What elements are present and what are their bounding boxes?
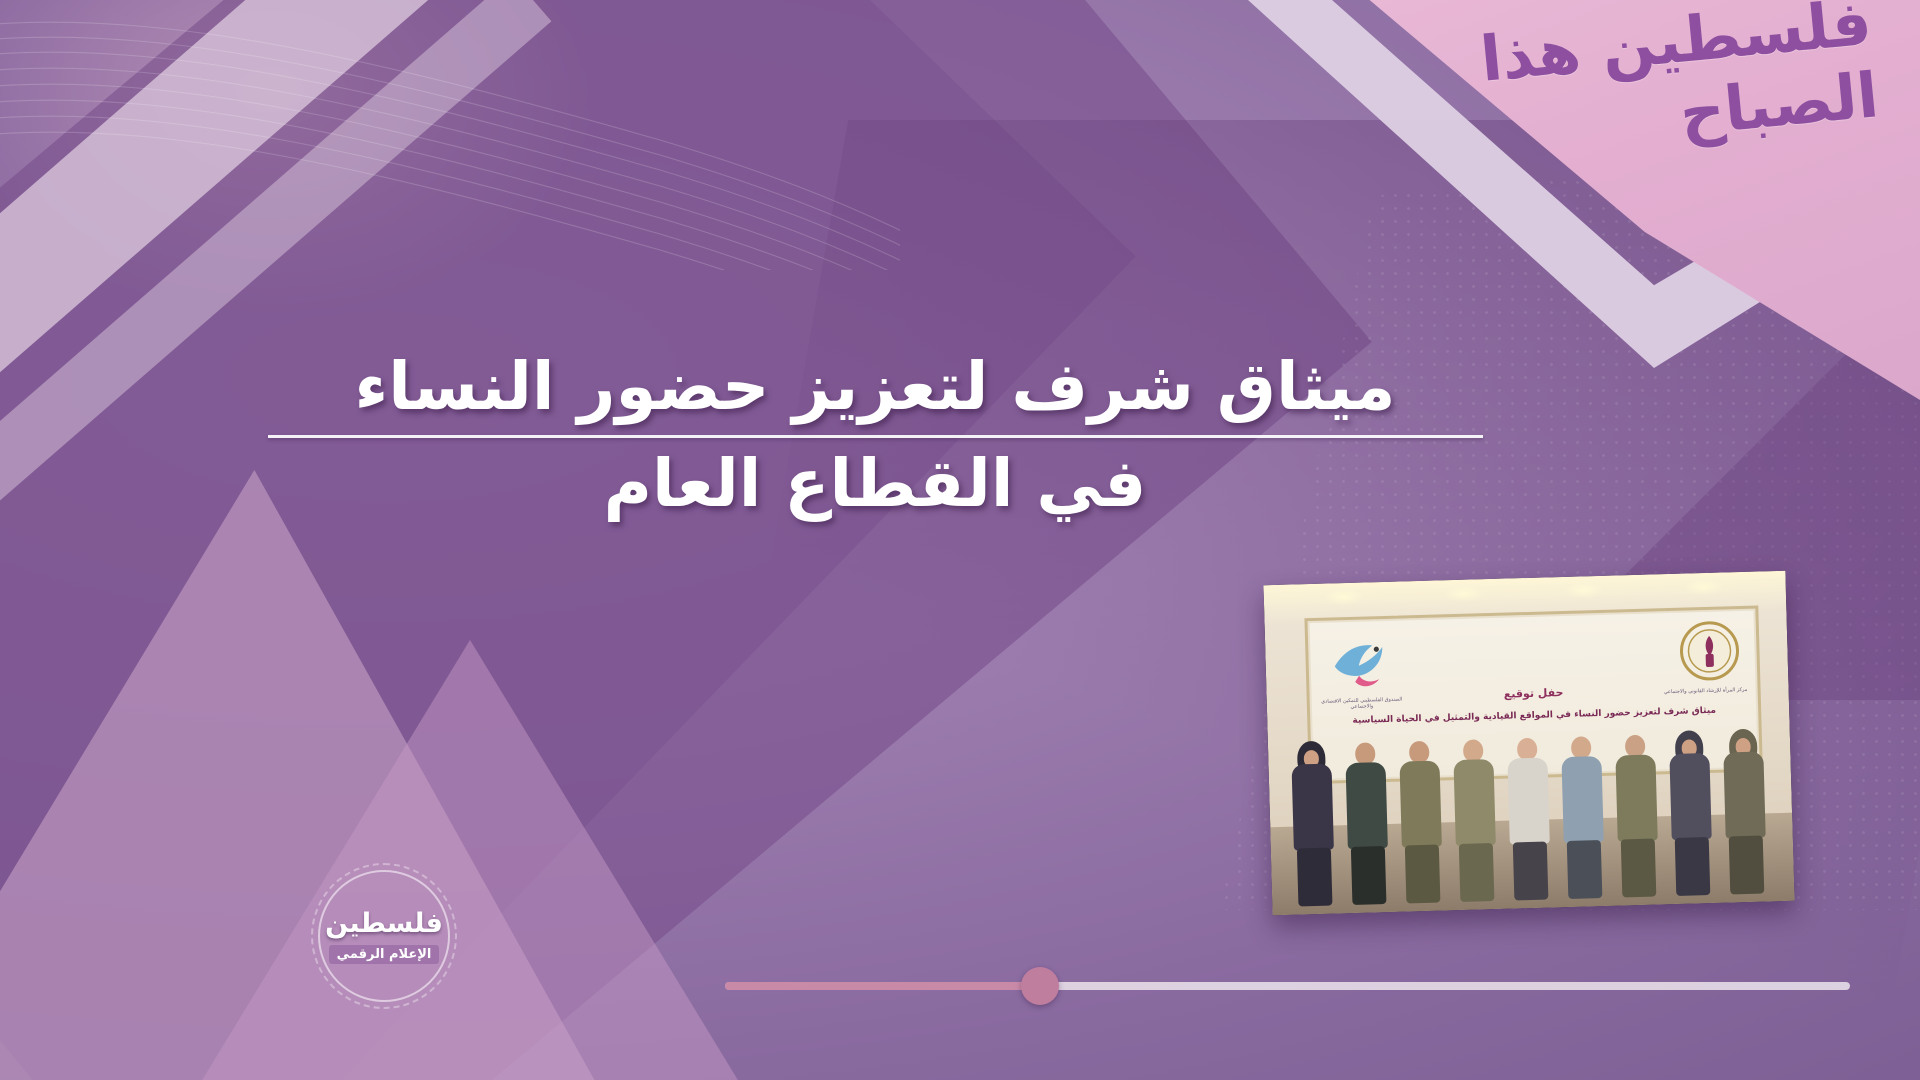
photo-person (1448, 739, 1502, 900)
photo-person (1286, 743, 1340, 904)
dove-logo-icon (1324, 631, 1398, 695)
headline-line-2: في القطاع العام (260, 442, 1490, 526)
photo-person (1718, 731, 1772, 892)
background-layer (0, 0, 1920, 1080)
photo-person (1394, 740, 1448, 901)
photo-person (1664, 733, 1718, 894)
watermark-dashed-ring (311, 863, 457, 1009)
progress-scrubber-handle[interactable] (1021, 967, 1059, 1005)
organization-emblem-icon (1678, 619, 1742, 683)
news-photo: الصندوق الفلسطيني للتمكين الاقتصادي والا… (1263, 571, 1794, 915)
headline-block: ميثاق شرف لتعزيز حضور النساء في القطاع ا… (260, 345, 1490, 527)
background-wave-lines-icon (0, 0, 900, 270)
channel-watermark: فلسطين الإعلام الرقمي (318, 870, 450, 1002)
headline-line-1: ميثاق شرف لتعزيز حضور النساء (260, 345, 1490, 429)
video-progress-bar[interactable] (725, 982, 1850, 990)
photo-person (1340, 742, 1394, 903)
photo-person (1502, 737, 1556, 898)
photo-person (1610, 734, 1664, 895)
photo-people-row (1282, 721, 1781, 905)
headline-divider (268, 435, 1483, 438)
progress-fill (725, 982, 1040, 990)
photo-person (1556, 736, 1610, 897)
